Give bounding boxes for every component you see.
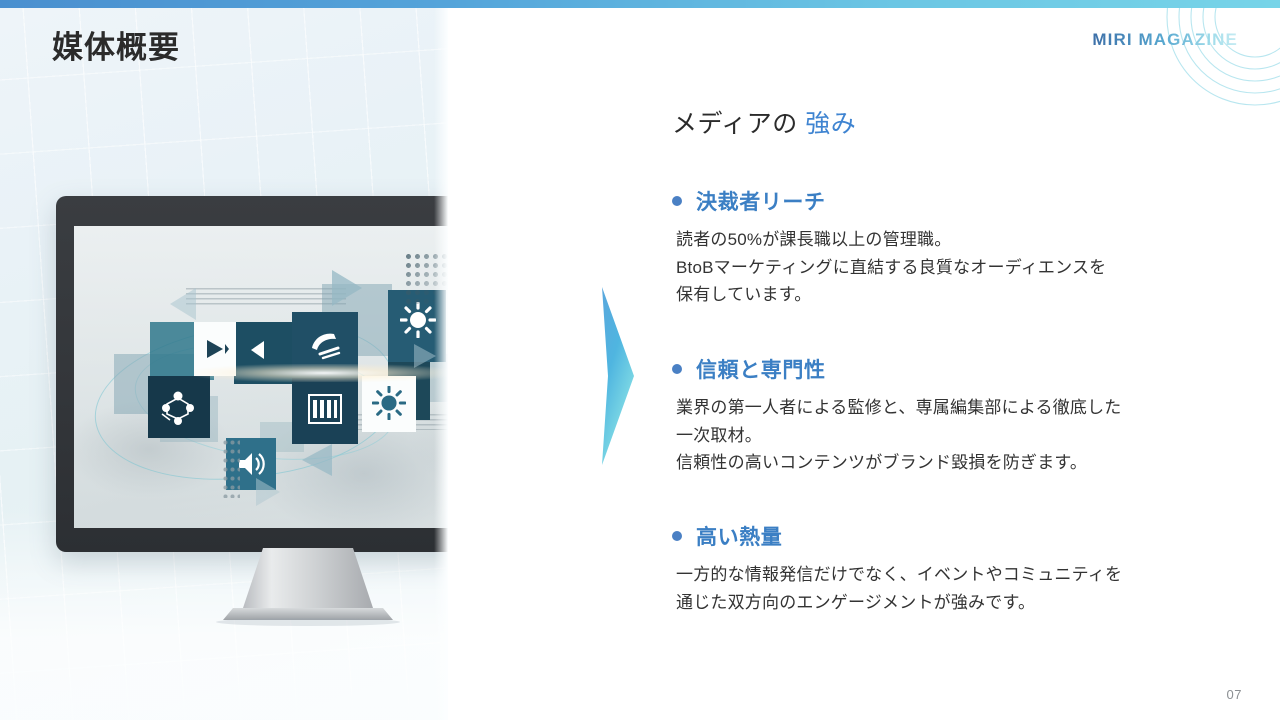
play-icon <box>204 336 230 362</box>
strength-heading-3: 高い熱量 <box>696 521 782 551</box>
triangle-accent-5 <box>256 478 280 506</box>
strength-heading-1-row: 決裁者リーチ <box>672 186 1106 216</box>
strength-block-3: 高い熱量 一方的な情報発信だけでなく、イベントやコミュニティを 通じた双方向のエ… <box>672 521 1122 616</box>
strength-heading-2-row: 信頼と専門性 <box>672 354 1122 384</box>
triangle-accent-2 <box>302 444 332 476</box>
strength-heading-1: 決裁者リーチ <box>696 186 826 216</box>
desktop-monitor-graphic <box>56 196 448 552</box>
strength-body-1: 読者の50%が課長職以上の管理職。 BtoBマーケティングに直結する良質なオーデ… <box>676 226 1106 309</box>
left-image-panel <box>0 8 448 720</box>
slide-canvas: 媒体概要 MIRI MAGAZINE メディアの 強み 決裁者リーチ 読者の50… <box>0 0 1280 720</box>
triangle-accent-3 <box>170 288 196 320</box>
strength-block-1: 決裁者リーチ 読者の50%が課長職以上の管理職。 BtoBマーケティングに直結す… <box>672 186 1106 309</box>
network-nodes-icon <box>158 388 200 428</box>
strength-heading-2: 信頼と専門性 <box>696 354 826 384</box>
section-title-accent: 強み <box>805 110 856 138</box>
strength-body-3: 一方的な情報発信だけでなく、イベントやコミュニティを 通じた双方向のエンゲージメ… <box>676 561 1122 616</box>
triangle-accent-1 <box>332 270 362 306</box>
strength-block-2: 信頼と専門性 業界の第一人者による監修と、専属編集部による徹底した 一次取材。 … <box>672 354 1122 477</box>
gear-sun-icon-white-tile <box>372 386 406 420</box>
corner-arcs-decoration <box>1160 0 1280 112</box>
bullet-dot-icon <box>672 196 682 206</box>
page-title: 媒体概要 <box>52 22 180 67</box>
section-title-plain: メディアの <box>672 110 805 138</box>
bullet-dot-icon <box>672 531 682 541</box>
play-icon-white <box>248 338 272 362</box>
section-title: メディアの 強み <box>672 104 856 140</box>
right-chevron-arrow <box>598 283 642 469</box>
monitor-stand <box>215 548 401 626</box>
page-number: 07 <box>1227 687 1242 702</box>
top-accent-bar <box>0 0 1280 8</box>
dot-column-pattern <box>222 438 240 498</box>
panel-right-edge-fade <box>434 8 448 720</box>
bullet-dot-icon <box>672 364 682 374</box>
monitor-screen <box>74 226 448 528</box>
strength-heading-3-row: 高い熱量 <box>672 521 1122 551</box>
server-rack-icon <box>308 394 342 424</box>
lens-flare <box>194 364 448 382</box>
swipe-hand-icon <box>306 326 342 360</box>
strength-body-2: 業界の第一人者による監修と、専属編集部による徹底した 一次取材。 信頼性の高いコ… <box>676 394 1122 477</box>
brand-logo-text: MIRI MAGAZINE <box>1092 30 1238 50</box>
